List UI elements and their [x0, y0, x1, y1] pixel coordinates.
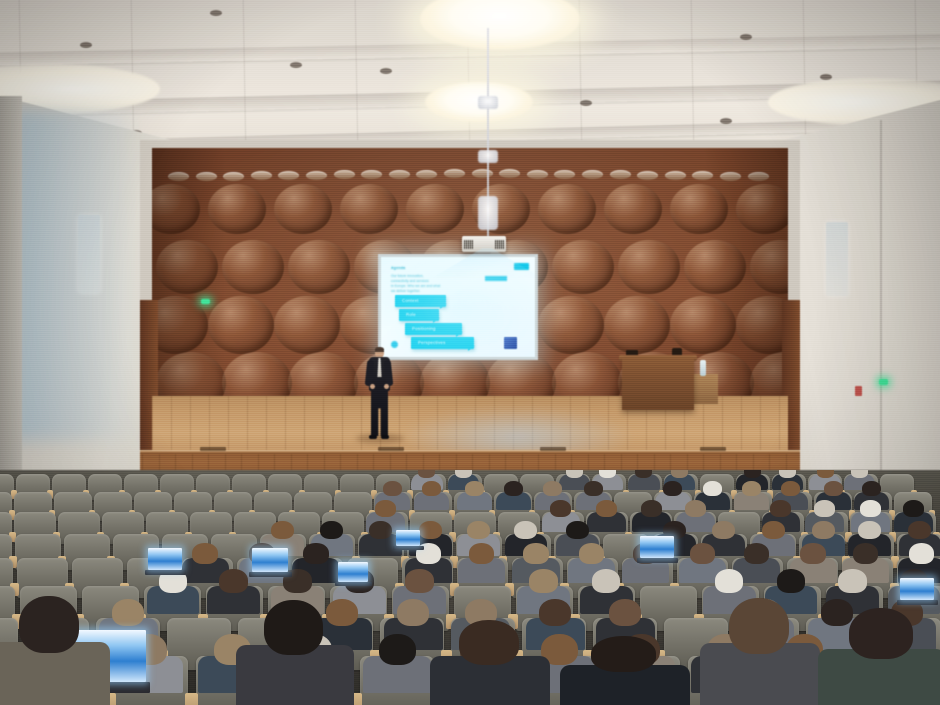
- backdrop-vent-icon: [389, 170, 410, 179]
- presenter: [364, 348, 394, 440]
- backdrop-vent-icon: [306, 171, 327, 180]
- floor-plank-line: [171, 396, 172, 458]
- floor-plank-line: [247, 396, 248, 458]
- audience-member-head: [821, 599, 853, 626]
- auditorium-scene: Agenda Our future innovation,connectivit…: [0, 0, 940, 705]
- audience-member-head: [584, 481, 603, 496]
- presenter-hand-right: [384, 384, 389, 389]
- audience-member-head: [112, 599, 144, 626]
- laptop-keyboard[interactable]: [393, 546, 424, 550]
- backdrop-dome: [222, 240, 284, 294]
- backdrop-dome: [604, 296, 670, 354]
- audience-member-head: [397, 599, 429, 626]
- audience-member-head: [379, 634, 416, 665]
- audience-member-head: [599, 470, 616, 478]
- projector-vent-icon: [495, 240, 504, 249]
- floor-plank-line: [361, 396, 362, 458]
- floor-plank-line: [285, 396, 286, 458]
- audience-member-head: [467, 521, 490, 540]
- backdrop-vent-icon: [334, 170, 355, 179]
- stage-vent-icon: [200, 447, 226, 451]
- audience-member-head: [326, 599, 358, 626]
- audience-member-head: [320, 521, 343, 540]
- backdrop-dome: [406, 184, 464, 234]
- audience-member-head: [383, 481, 402, 496]
- wall-left-edge: [0, 96, 22, 516]
- laptop-keyboard[interactable]: [637, 558, 678, 563]
- backdrop-vent-icon: [251, 171, 272, 180]
- acoustic-panel-left: [78, 215, 100, 293]
- backdrop-vent-icon: [444, 169, 465, 178]
- audience-member-head: [715, 569, 744, 592]
- audience-member-head: [838, 569, 867, 592]
- foreground-audience-head: [729, 598, 789, 654]
- floor-plank-line: [152, 396, 153, 458]
- floor-plank-line: [779, 396, 780, 458]
- backdrop-vent-icon: [582, 170, 603, 179]
- recessed-downlight-icon: [580, 100, 592, 106]
- audience-member-head: [550, 500, 571, 517]
- audience-member-head: [742, 481, 761, 496]
- backdrop-dome: [538, 184, 596, 234]
- backdrop-vent-row: [152, 165, 788, 181]
- presenter-hand-left: [370, 384, 375, 389]
- laptop-keyboard[interactable]: [249, 572, 292, 577]
- floor-plank-line: [741, 396, 742, 458]
- laptop-keyboard[interactable]: [335, 582, 372, 586]
- audience-member-head: [779, 470, 796, 478]
- audience-member-head: [539, 599, 571, 626]
- pendant-node: [478, 96, 498, 109]
- audience-member-head: [908, 521, 931, 540]
- audience-member-head: [523, 543, 549, 564]
- presenter-arm-right: [384, 360, 394, 387]
- audience-member-head: [514, 521, 537, 540]
- audience-member-head: [641, 500, 662, 517]
- audience-member-head: [609, 599, 641, 626]
- foreground-audience-head: [264, 600, 323, 655]
- audience-member-head: [812, 521, 835, 540]
- audience-member-head: [909, 543, 935, 564]
- backdrop-vent-icon: [665, 171, 686, 180]
- backdrop-vent-icon: [499, 169, 520, 178]
- audience-member-head: [744, 470, 761, 478]
- audience-member-head: [824, 481, 843, 496]
- audience-member-head: [663, 481, 682, 496]
- backdrop-dome: [274, 296, 340, 354]
- floor-plank-line: [266, 396, 267, 458]
- audience-member-head: [800, 543, 826, 564]
- audience-member-head: [690, 543, 716, 564]
- lectern: [622, 358, 694, 410]
- recessed-downlight-icon: [210, 10, 222, 16]
- backdrop-vent-icon: [527, 170, 548, 179]
- audience-member-head: [770, 500, 791, 517]
- backdrop-dome: [538, 296, 604, 354]
- audience-member-head: [303, 543, 329, 564]
- stage-vent-icon: [378, 447, 404, 451]
- audience-member-head: [703, 481, 722, 496]
- exit-light-right-icon: [879, 379, 888, 385]
- audience-member-head: [543, 481, 562, 496]
- audience-member-head: [858, 521, 881, 540]
- backdrop-vent-icon: [554, 170, 575, 179]
- backdrop-dome: [552, 240, 614, 294]
- audience-member-head: [592, 569, 621, 592]
- backdrop-vent-icon: [472, 169, 493, 178]
- laptop-screen[interactable]: [338, 562, 368, 582]
- audience-member-head: [369, 521, 392, 540]
- stage-vent-icon: [700, 447, 726, 451]
- slide-dot-icon: [391, 341, 398, 348]
- slide-bullet-perspectives: Perspectives: [411, 337, 474, 349]
- floor-plank-line: [323, 396, 324, 458]
- pendant-node: [478, 196, 498, 230]
- slide-bullet-role: Role: [399, 309, 439, 321]
- laptop-screen[interactable]: [640, 536, 674, 558]
- presenter-trousers: [371, 390, 388, 436]
- recessed-downlight-icon: [80, 42, 92, 48]
- backdrop-vent-icon: [416, 170, 437, 179]
- backdrop-vent-icon: [637, 171, 658, 180]
- ceiling-tile-seam: [355, 0, 359, 150]
- audience-member-head: [469, 543, 495, 564]
- laptop-screen[interactable]: [900, 578, 934, 600]
- audience-member-head: [579, 543, 605, 564]
- audience-member-head: [419, 521, 442, 540]
- wall-seam: [880, 120, 882, 490]
- floor-plank-line: [228, 396, 229, 458]
- fire-equipment-sign-icon: [855, 386, 862, 396]
- audience-member-head: [192, 543, 218, 564]
- ceiling-tile-seam: [243, 0, 247, 150]
- floor-plank-line: [342, 396, 343, 458]
- water-bottle-icon: [700, 360, 706, 376]
- backdrop-dome: [288, 240, 350, 294]
- laptop-screen[interactable]: [396, 530, 420, 546]
- stage-vent-icon: [540, 447, 566, 451]
- audience-member-head: [744, 543, 770, 564]
- audience-member-head: [671, 470, 688, 478]
- slide-logo-bottom-right-icon: [504, 337, 517, 349]
- audience-member-head: [465, 481, 484, 496]
- laptop-screen[interactable]: [148, 548, 182, 570]
- exit-light-left-icon: [201, 299, 210, 304]
- audience-member-head: [635, 470, 652, 478]
- audience-member-head: [405, 569, 434, 592]
- audience-member-head: [903, 500, 924, 517]
- presenter-shoe: [381, 435, 389, 439]
- backdrop-vent-icon: [610, 170, 631, 179]
- seat-armrest: [185, 693, 198, 705]
- audience-member-head: [781, 481, 800, 496]
- audience-member-head: [851, 470, 868, 478]
- backdrop-vent-icon: [278, 171, 299, 180]
- backdrop-dome: [274, 184, 332, 234]
- audience-seating-area: [0, 470, 940, 705]
- backdrop-vent-icon: [223, 172, 244, 181]
- presenter-shoe: [369, 435, 377, 439]
- audience-member-head: [422, 481, 441, 496]
- laptop-screen[interactable]: [252, 548, 288, 572]
- side-table: [694, 374, 718, 404]
- pendant-node: [478, 150, 498, 163]
- audience-member-head: [375, 500, 396, 517]
- audience-member-head: [862, 481, 881, 496]
- audience-member-head: [817, 470, 834, 478]
- foreground-audience-head: [849, 608, 913, 659]
- backdrop-vent-icon: [361, 170, 382, 179]
- audience-member-head: [529, 569, 558, 592]
- backdrop-dome: [340, 184, 398, 234]
- slide-bullet-context: Context: [395, 295, 446, 307]
- audience-member-head: [566, 521, 589, 540]
- audience-member-head: [566, 470, 583, 478]
- recessed-downlight-icon: [290, 62, 302, 68]
- audience-member-head: [814, 500, 835, 517]
- projector-vent-icon: [464, 240, 473, 249]
- audience-member-head: [219, 569, 248, 592]
- floor-plank-line: [190, 396, 191, 458]
- audience-member-head: [596, 500, 617, 517]
- floor-plank-line: [760, 396, 761, 458]
- acoustic-panel-right: [826, 222, 848, 296]
- floor-plank-line: [304, 396, 305, 458]
- foreground-audience-head: [459, 620, 519, 665]
- recessed-downlight-icon: [720, 118, 732, 124]
- foreground-audience-head: [19, 596, 79, 653]
- audience-member-head: [712, 521, 735, 540]
- audience-member-head: [455, 470, 472, 478]
- audience-member-head: [762, 521, 785, 540]
- audience-member-head: [271, 521, 294, 540]
- audience-member-head: [777, 569, 806, 592]
- slide-subtitle-line: we deliver together.: [391, 289, 477, 294]
- backdrop-dome: [618, 240, 680, 294]
- audience-member-head: [504, 481, 523, 496]
- backdrop-dome: [604, 184, 662, 234]
- slide-bullet-positioning: Positioning: [405, 323, 462, 335]
- wall-left-blue-wash: [12, 110, 132, 440]
- audience-member-head: [685, 500, 706, 517]
- laptop-keyboard[interactable]: [145, 570, 186, 575]
- recessed-downlight-icon: [740, 34, 752, 40]
- recessed-downlight-icon: [380, 68, 392, 74]
- presenter-hair: [375, 347, 384, 352]
- foreground-audience-head: [591, 636, 656, 672]
- audience-member-head: [853, 543, 879, 564]
- audience-member-head: [860, 500, 881, 517]
- laptop-keyboard[interactable]: [897, 600, 938, 605]
